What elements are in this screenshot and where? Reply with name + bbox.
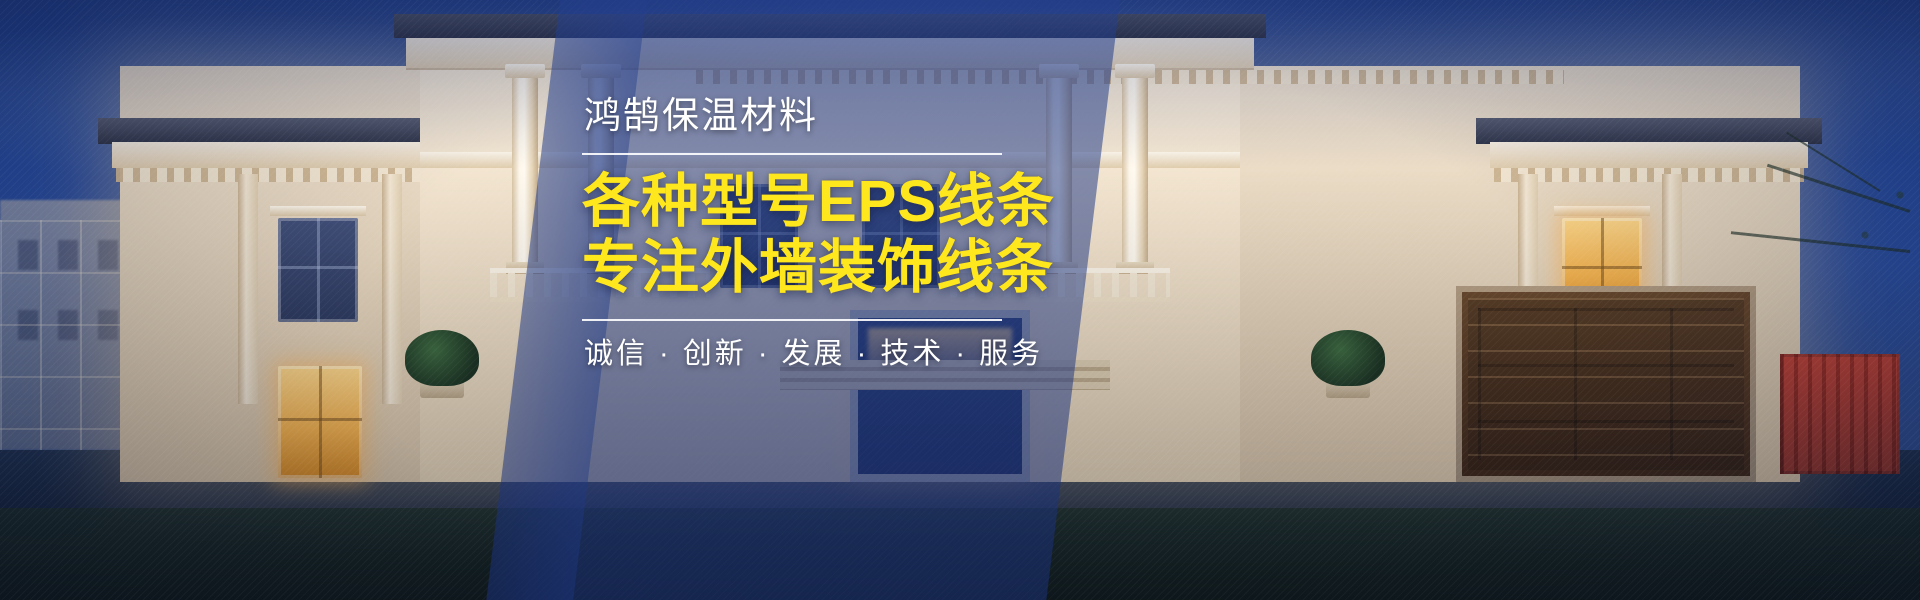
headline-line-2: 专注外墙装饰线条: [582, 235, 1102, 301]
divider-top: [582, 153, 1002, 155]
banner-subtitle: 鸿鹄保温材料: [584, 96, 1102, 137]
banner-tagline: 诚信 · 创新 · 发展 · 技术 · 服务: [584, 337, 1102, 372]
banner-copy: 鸿鹄保温材料 各种型号EPS线条 专注外墙装饰线条 诚信 · 创新 · 发展 ·…: [582, 96, 1102, 372]
hero-banner: 鸿鹄保温材料 各种型号EPS线条 专注外墙装饰线条 诚信 · 创新 · 发展 ·…: [0, 0, 1920, 600]
headline-line-1: 各种型号EPS线条: [582, 169, 1102, 235]
divider-bottom: [582, 319, 1002, 321]
